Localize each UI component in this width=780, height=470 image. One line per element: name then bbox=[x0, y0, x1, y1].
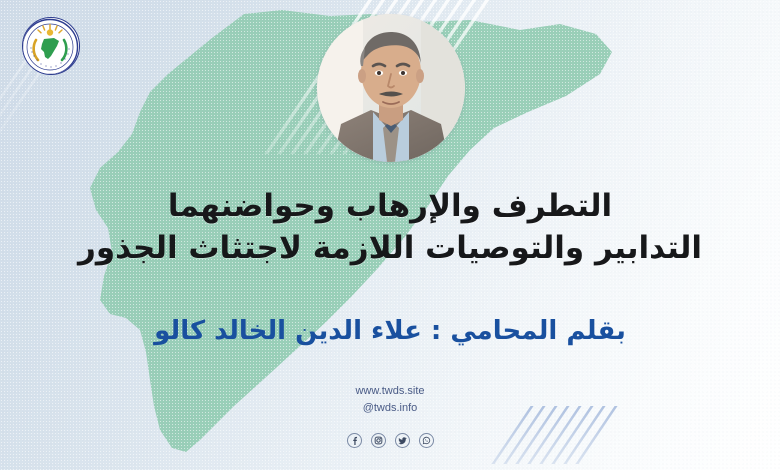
social-links bbox=[0, 433, 780, 448]
whatsapp-icon[interactable] bbox=[419, 433, 434, 448]
social-handle[interactable]: @twds.info bbox=[0, 400, 780, 417]
author-byline: بقلم المحامي : علاء الدين الخالد كالو bbox=[0, 316, 780, 346]
organization-emblem-icon bbox=[22, 17, 80, 75]
headline-line-1: التطرف والإرهاب وحواضنهما bbox=[0, 186, 780, 228]
poster-canvas: التطرف والإرهاب وحواضنهما التدابير والتو… bbox=[0, 0, 780, 470]
footer-website-block: www.twds.site @twds.info bbox=[0, 383, 780, 416]
facebook-icon[interactable] bbox=[347, 433, 362, 448]
headline-line-2: التدابير والتوصيات اللازمة لاجتثاث الجذو… bbox=[0, 228, 780, 270]
page-title: التطرف والإرهاب وحواضنهما التدابير والتو… bbox=[0, 186, 780, 269]
author-portrait bbox=[317, 14, 465, 162]
instagram-icon[interactable] bbox=[371, 433, 386, 448]
twitter-icon[interactable] bbox=[395, 433, 410, 448]
website-url[interactable]: www.twds.site bbox=[0, 383, 780, 400]
